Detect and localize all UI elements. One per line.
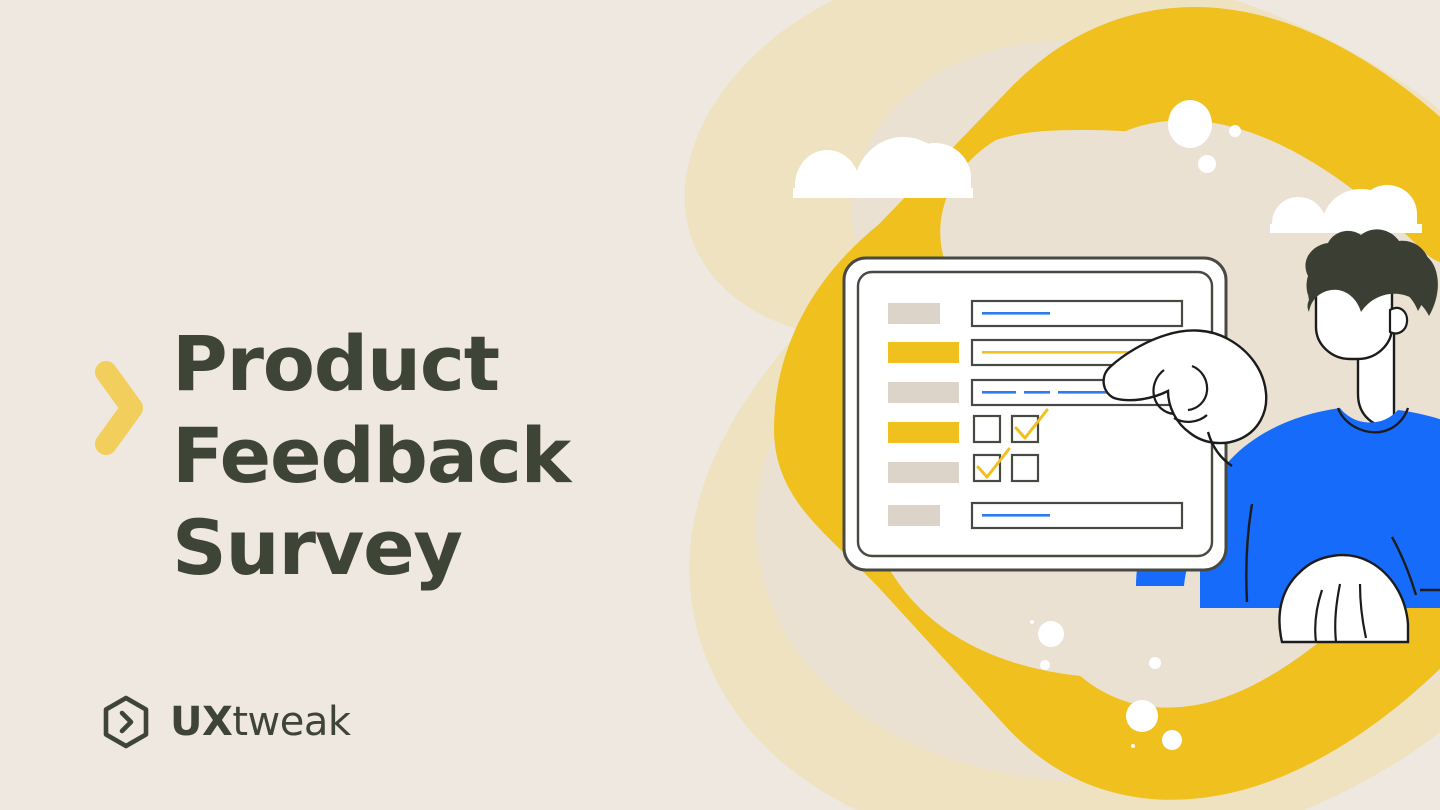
form-label-4 xyxy=(888,422,959,443)
hexagon-chevron-logo-icon xyxy=(98,694,154,750)
checkbox-4a xyxy=(974,416,1000,442)
form-label-6 xyxy=(888,505,940,526)
form-input-2-text xyxy=(982,351,1144,354)
form-label-1 xyxy=(888,303,940,324)
form-label-2 xyxy=(888,342,959,363)
form-input-1-text xyxy=(982,312,1050,315)
slide-canvas: Product Feedback Survey UXtweak xyxy=(0,0,1440,810)
chevron-right-icon xyxy=(92,358,148,458)
brand-name-bold: UX xyxy=(170,699,232,745)
brand-logo[interactable]: UXtweak xyxy=(98,694,351,750)
page-title: Product Feedback Survey xyxy=(172,318,872,594)
brand-name-regular: tweak xyxy=(232,699,350,745)
checkbox-5b xyxy=(1012,455,1038,481)
form-input-3-text xyxy=(982,391,1107,394)
ear-shape xyxy=(1390,308,1407,333)
form-input-6-text xyxy=(982,514,1050,517)
brand-wordmark: UXtweak xyxy=(170,702,351,742)
form-label-3 xyxy=(888,382,959,403)
form-label-5 xyxy=(888,462,959,483)
